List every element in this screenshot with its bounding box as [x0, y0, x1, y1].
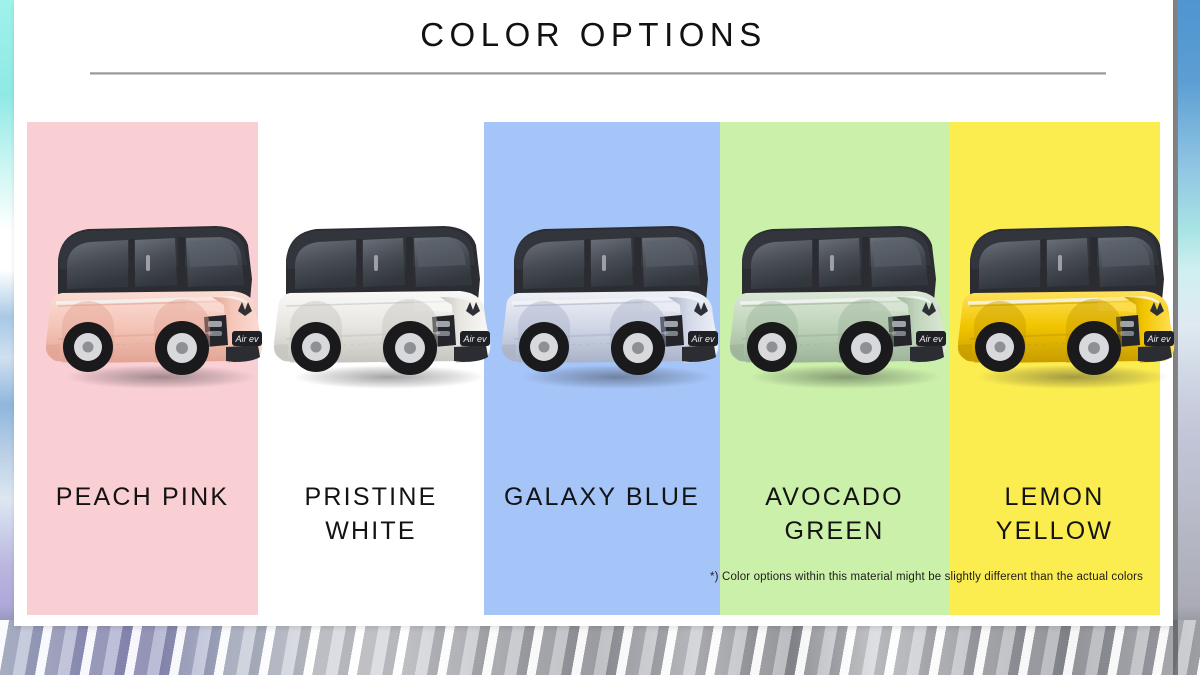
bottom-motion-band: [0, 620, 1200, 675]
color-panel-label: LEMON YELLOW: [949, 480, 1160, 548]
color-panel-row: PEACH PINKPRISTINE WHITEGALAXY BLUEAVOCA…: [27, 122, 1160, 615]
color-panel-label: PRISTINE WHITE: [258, 480, 484, 548]
right-motion-strip: [1178, 0, 1200, 675]
color-panel-lemon-yellow[interactable]: LEMON YELLOW: [949, 122, 1160, 615]
footnote-text: *) Color options within this material mi…: [710, 571, 1143, 583]
right-edge-divider: [1173, 0, 1178, 675]
slide-card: COLOR OPTIONS PEACH PINKPRISTINE WHITEGA…: [14, 0, 1173, 626]
page-title: COLOR OPTIONS: [14, 16, 1173, 54]
left-motion-strip: [0, 0, 14, 675]
color-panel-pristine-white[interactable]: PRISTINE WHITE: [258, 122, 484, 615]
color-panel-avocado-green[interactable]: AVOCADO GREEN: [720, 122, 949, 615]
color-panel-label: PEACH PINK: [27, 480, 258, 514]
slide-canvas: COLOR OPTIONS PEACH PINKPRISTINE WHITEGA…: [0, 0, 1200, 675]
color-panel-label: GALAXY BLUE: [484, 480, 720, 514]
color-panel-galaxy-blue[interactable]: GALAXY BLUE: [484, 122, 720, 615]
color-panel-label: AVOCADO GREEN: [720, 480, 949, 548]
title-divider: [90, 72, 1106, 75]
color-panel-peach-pink[interactable]: PEACH PINK: [27, 122, 258, 615]
